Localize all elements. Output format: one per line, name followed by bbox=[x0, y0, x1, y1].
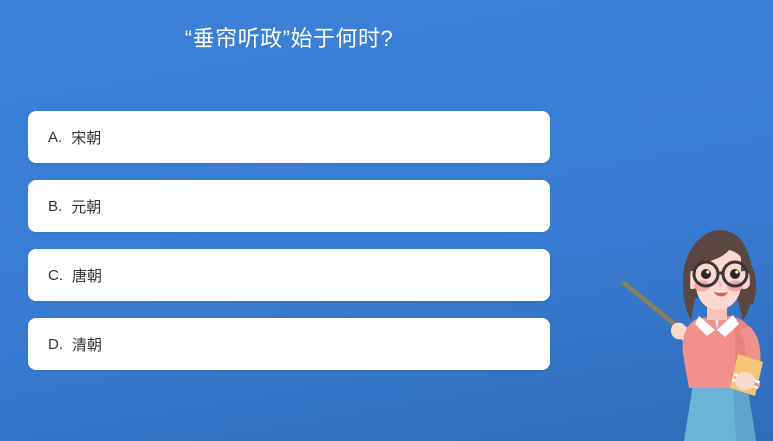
glasses-icon bbox=[694, 262, 747, 286]
option-letter-a: A. bbox=[48, 129, 62, 146]
option-card-b[interactable]: B. 元朝 bbox=[28, 180, 550, 232]
mouth-shape bbox=[714, 291, 728, 297]
hair-front-shape bbox=[684, 230, 756, 306]
neck-shape bbox=[707, 300, 727, 320]
pointer-stick-icon bbox=[624, 283, 679, 328]
option-letter-c: C. bbox=[48, 267, 63, 284]
right-hand-shape bbox=[735, 372, 755, 390]
teacher-illustration-icon bbox=[595, 226, 773, 441]
book-icon bbox=[730, 354, 763, 396]
eyes-shape bbox=[701, 269, 740, 279]
collar-shape bbox=[695, 315, 739, 337]
option-letter-b: B. bbox=[48, 198, 62, 215]
options-list: A. 宋朝 B. 元朝 C. 唐朝 D. 清朝 bbox=[28, 111, 550, 370]
question-title: “垂帘听政”始于何时? bbox=[28, 24, 550, 54]
option-card-a[interactable]: A. 宋朝 bbox=[28, 111, 550, 163]
option-text-a: 宋朝 bbox=[71, 127, 101, 148]
option-card-d[interactable]: D. 清朝 bbox=[28, 318, 550, 370]
right-arm-shape bbox=[739, 326, 761, 376]
option-card-c[interactable]: C. 唐朝 bbox=[28, 249, 550, 301]
face-shape bbox=[696, 236, 741, 310]
nose-shape bbox=[719, 282, 721, 286]
option-letter-d: D. bbox=[48, 336, 63, 353]
ear-shape bbox=[685, 271, 751, 289]
cheek-shape bbox=[694, 281, 743, 292]
hair-back-shape bbox=[683, 232, 753, 320]
skirt-shape bbox=[684, 384, 756, 441]
quiz-screen: “垂帘听政”始于何时? A. 宋朝 B. 元朝 C. 唐朝 D. 清朝 bbox=[0, 0, 773, 441]
option-text-d: 清朝 bbox=[72, 334, 102, 355]
option-text-b: 元朝 bbox=[71, 196, 101, 217]
option-text-c: 唐朝 bbox=[72, 265, 102, 286]
left-arm-shape bbox=[668, 320, 709, 346]
sweater-shape bbox=[683, 316, 756, 388]
